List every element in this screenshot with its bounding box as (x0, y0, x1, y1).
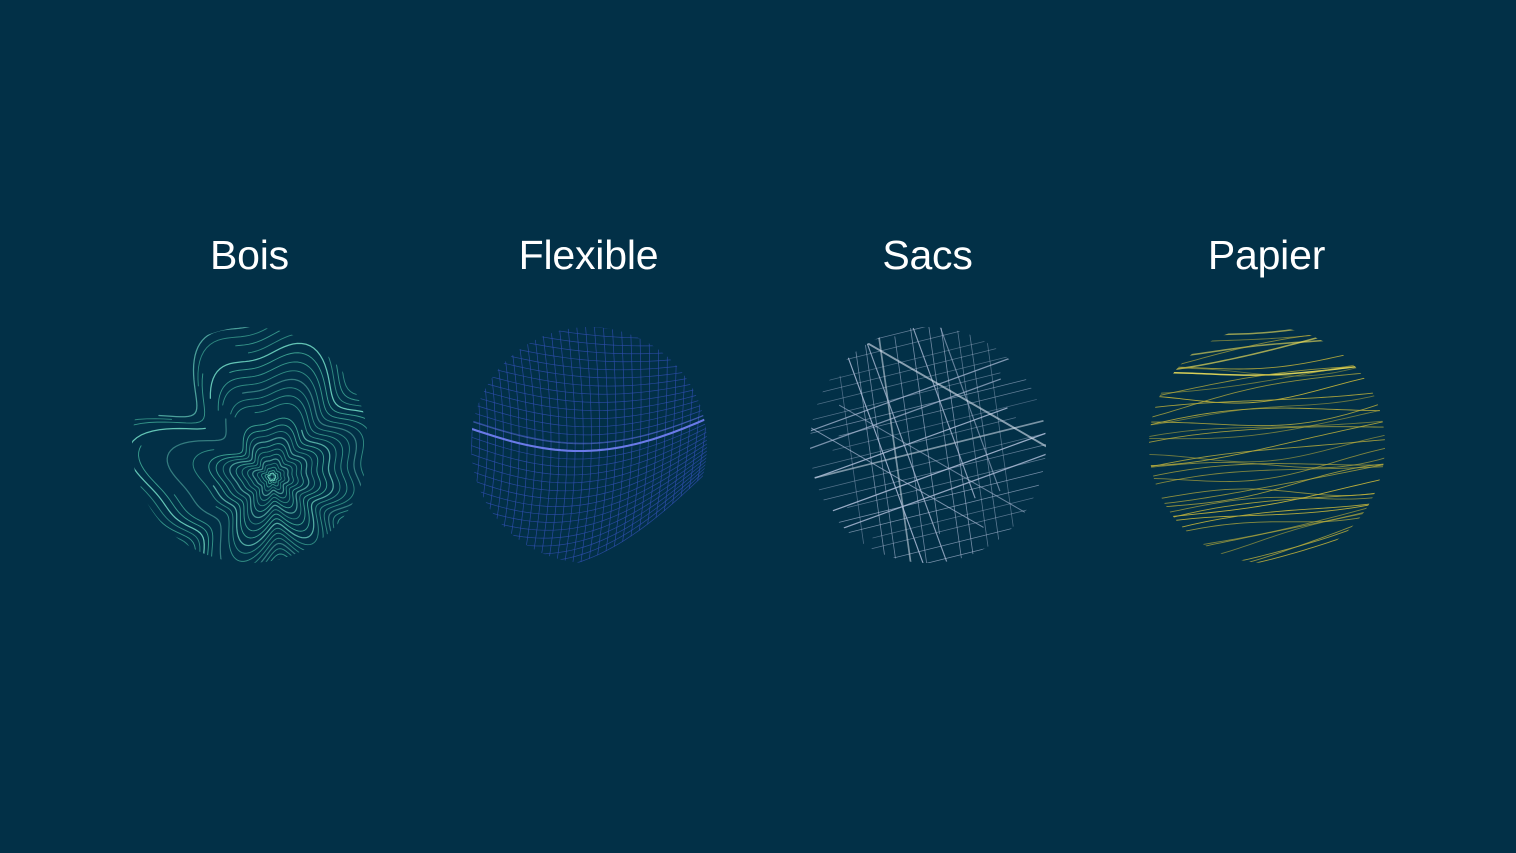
material-card-flexible[interactable]: Flexible (419, 217, 758, 637)
material-label-sacs: Sacs (882, 235, 972, 276)
tree-rings-motif (125, 320, 375, 570)
woven-lines-motif (803, 320, 1053, 570)
flowing-fibers-motif (1142, 320, 1392, 570)
material-label-bois: Bois (210, 235, 289, 276)
presentation-slide: Bois Flexible Sacs Papier (0, 0, 1516, 853)
material-card-papier[interactable]: Papier (1097, 217, 1436, 637)
material-label-papier: Papier (1208, 235, 1325, 276)
material-label-flexible: Flexible (519, 235, 659, 276)
material-card-sacs[interactable]: Sacs (758, 217, 1097, 637)
material-card-row: Bois Flexible Sacs Papier (0, 0, 1516, 853)
warped-mesh-motif (464, 320, 714, 570)
material-card-bois[interactable]: Bois (80, 217, 419, 637)
